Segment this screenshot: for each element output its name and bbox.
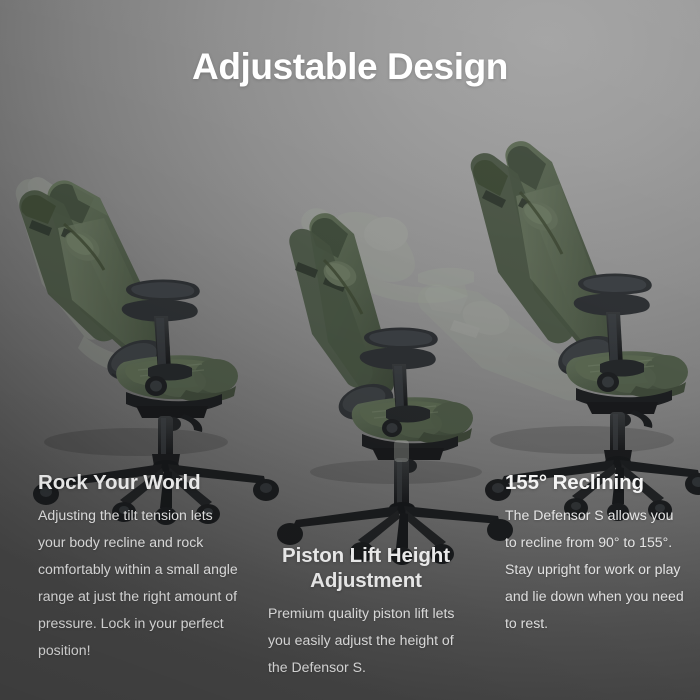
feature-heading-recline: 155° Reclining	[505, 470, 685, 495]
feature-body-recline: The Defensor S allows you to recline fro…	[505, 502, 685, 637]
chair-image-rock	[8, 124, 258, 474]
feature-heading-piston-line2: Adjustment	[268, 568, 464, 593]
feature-block-rock: Rock Your World Adjusting the tilt tensi…	[38, 470, 243, 664]
page-title: Adjustable Design	[0, 46, 700, 88]
chair-image-recline	[452, 120, 700, 470]
feature-block-recline: 155° Reclining The Defensor S allows you…	[505, 470, 685, 637]
feature-heading-piston: Piston Lift Height Adjustment	[268, 543, 464, 593]
feature-heading-rock: Rock Your World	[38, 470, 243, 495]
feature-body-piston: Premium quality piston lift lets you eas…	[268, 600, 464, 681]
feature-heading-piston-line1: Piston Lift Height	[268, 543, 464, 568]
infographic-page: Adjustable Design	[0, 0, 700, 700]
chair-image-stage	[0, 118, 700, 488]
gas-cylinder	[394, 440, 409, 510]
feature-body-rock: Adjusting the tilt tension lets your bod…	[38, 502, 243, 664]
feature-block-piston: Piston Lift Height Adjustment Premium qu…	[268, 543, 464, 681]
